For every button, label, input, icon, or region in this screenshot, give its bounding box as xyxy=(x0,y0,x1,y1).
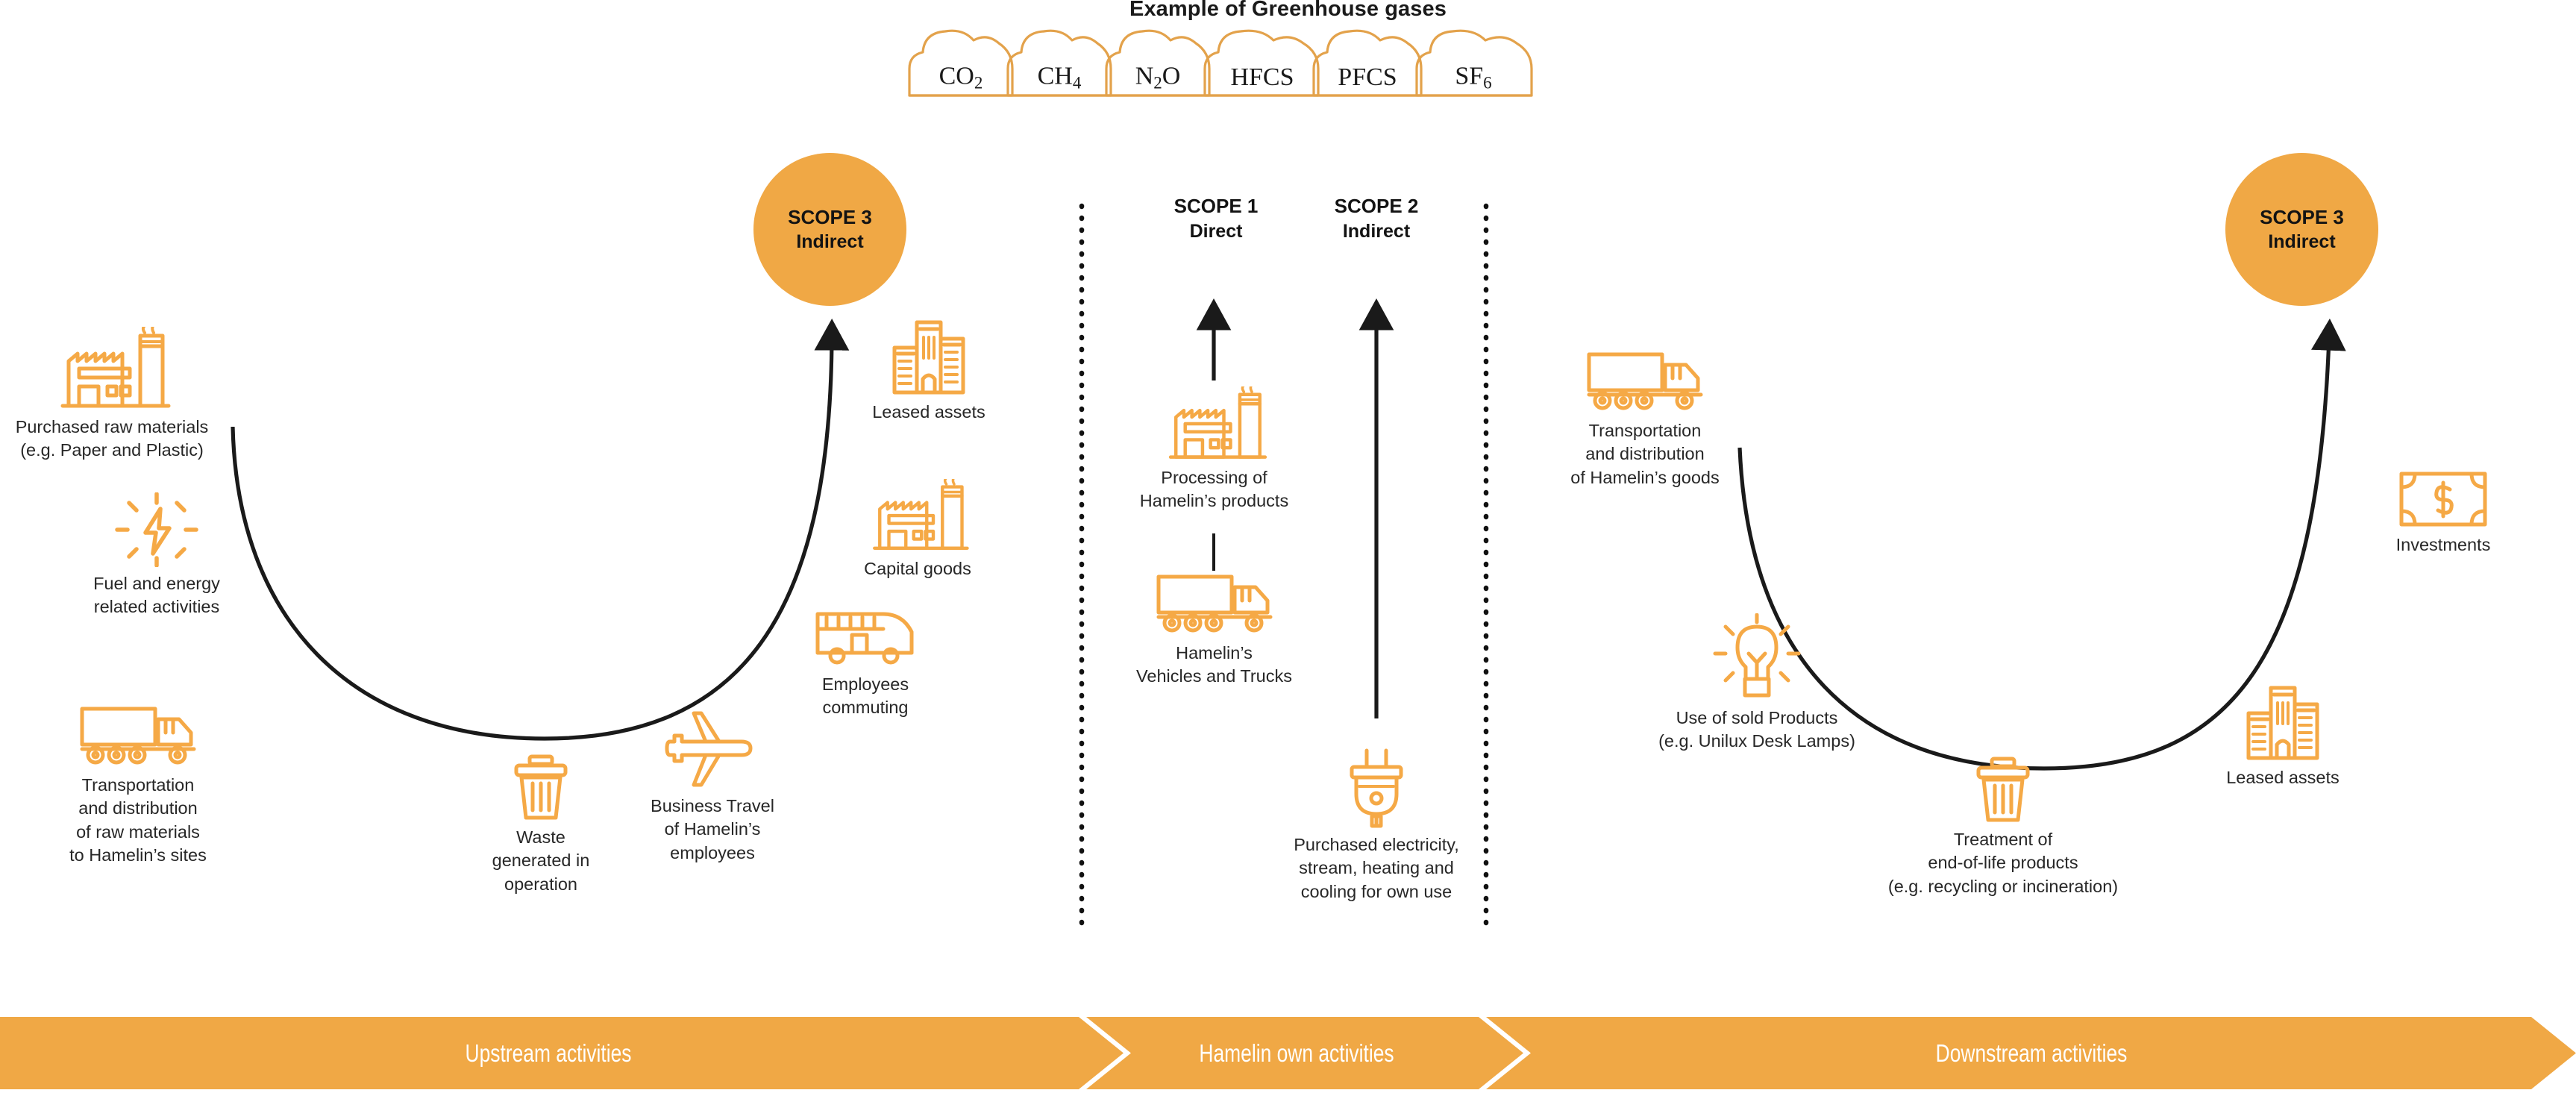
gas-label-n2o: N2O xyxy=(1135,63,1181,93)
greenhouse-gas-cloud-group: CO2 CH4 N2O HFCS PFCS SF6 xyxy=(899,22,1667,112)
factory-icon xyxy=(843,477,992,552)
scope1-header: SCOPE 1 Direct xyxy=(1134,194,1298,244)
item-label: Investments xyxy=(2361,533,2525,557)
band-label-own: Hamelin own activities xyxy=(1175,1039,1418,1068)
scope3-downstream-badge: SCOPE 3 Indirect xyxy=(2225,153,2378,306)
item-purchased-raw-materials: Purchased raw materials (e.g. Paper and … xyxy=(0,325,224,463)
item-investments: Investments xyxy=(2361,463,2525,557)
buildings-icon xyxy=(854,317,1003,395)
item-leased-assets-downstream: Leased assets xyxy=(2208,683,2357,789)
item-label: Fuel and energy related activities xyxy=(0,572,321,619)
activity-band-group: Upstream activities Hamelin own activiti… xyxy=(0,1017,2576,1089)
item-label: Capital goods xyxy=(843,557,992,580)
item-waste-generated: Waste generated in operation xyxy=(463,754,619,896)
scope3-upstream-title: SCOPE 3 xyxy=(788,205,872,230)
scope3-upstream-badge: SCOPE 3 Indirect xyxy=(753,153,906,306)
energy-spark-icon xyxy=(0,492,321,567)
gas-label-co2: CO2 xyxy=(939,63,983,93)
item-label: Use of sold Products (e.g. Unilux Desk L… xyxy=(1608,707,1906,754)
factory-icon xyxy=(0,325,224,410)
item-business-travel: Business Travel of Hamelin’s employees xyxy=(638,709,787,865)
scope2-subtitle: Indirect xyxy=(1294,219,1458,244)
item-label: Employees commuting xyxy=(787,673,944,720)
item-label: Transportation and distribution of Hamel… xyxy=(1552,419,1738,489)
item-label: Purchased electricity, stream, heating a… xyxy=(1268,833,1485,903)
item-transportation-raw-materials: Transportation and distribution of raw m… xyxy=(52,701,224,867)
item-label: Business Travel of Hamelin’s employees xyxy=(638,795,787,865)
page-title: Example of Greenhouse gases xyxy=(0,0,2576,22)
banknote-icon xyxy=(2361,463,2525,528)
truck-icon xyxy=(52,701,224,768)
airplane-icon xyxy=(638,709,787,789)
item-vehicles-and-trucks: Hamelin’s Vehicles and Trucks xyxy=(1115,571,1313,689)
scope3-upstream-subtitle: Indirect xyxy=(796,230,863,254)
connector-overlay xyxy=(0,0,2576,1089)
item-label: Treatment of end-of-life products (e.g. … xyxy=(1843,828,2163,898)
item-processing-products: Processing of Hamelin’s products xyxy=(1115,377,1313,513)
gas-label-pfcs: PFCS xyxy=(1338,63,1397,92)
truck-icon xyxy=(1552,347,1738,414)
lightbulb-icon xyxy=(1608,610,1906,701)
item-employees-commuting: Employees commuting xyxy=(787,604,944,720)
upstream-flow-arrow xyxy=(233,337,832,739)
gas-label-ch4: CH4 xyxy=(1038,63,1082,93)
item-leased-assets-upstream: Leased assets xyxy=(854,317,1003,424)
item-label: Waste generated in operation xyxy=(463,826,619,896)
factory-icon xyxy=(1115,377,1313,461)
item-label: Processing of Hamelin’s products xyxy=(1115,466,1313,513)
scope1-subtitle: Direct xyxy=(1134,219,1298,244)
trash-bin-icon xyxy=(1843,752,2163,823)
scope2-title: SCOPE 2 xyxy=(1294,194,1458,219)
scope2-header: SCOPE 2 Indirect xyxy=(1294,194,1458,244)
trash-bin-icon xyxy=(463,754,619,821)
gas-label-hfcs: HFCS xyxy=(1230,63,1294,92)
item-label: Hamelin’s Vehicles and Trucks xyxy=(1115,642,1313,689)
scope3-downstream-subtitle: Indirect xyxy=(2268,230,2335,254)
item-end-of-life-treatment: Treatment of end-of-life products (e.g. … xyxy=(1843,752,2163,898)
item-label: Transportation and distribution of raw m… xyxy=(52,774,224,867)
band-label-upstream: Upstream activities xyxy=(445,1039,653,1068)
truck-icon xyxy=(1115,571,1313,636)
scope3-downstream-title: SCOPE 3 xyxy=(2260,205,2344,230)
item-label: Purchased raw materials (e.g. Paper and … xyxy=(0,416,224,463)
item-purchased-electricity: Purchased electricity, stream, heating a… xyxy=(1268,746,1485,903)
bus-icon xyxy=(787,604,944,668)
gas-label-sf6: SF6 xyxy=(1455,63,1491,93)
item-use-of-sold-products: Use of sold Products (e.g. Unilux Desk L… xyxy=(1608,610,1906,754)
item-label: Leased assets xyxy=(854,401,1003,424)
item-capital-goods: Capital goods xyxy=(843,477,992,580)
band-label-downstream: Downstream activities xyxy=(1912,1039,2152,1068)
scope1-title: SCOPE 1 xyxy=(1134,194,1298,219)
power-plug-icon xyxy=(1268,746,1485,828)
item-label: Leased assets xyxy=(2208,766,2357,789)
buildings-icon xyxy=(2208,683,2357,761)
item-transportation-goods: Transportation and distribution of Hamel… xyxy=(1552,347,1738,489)
item-fuel-and-energy: Fuel and energy related activities xyxy=(0,492,321,619)
